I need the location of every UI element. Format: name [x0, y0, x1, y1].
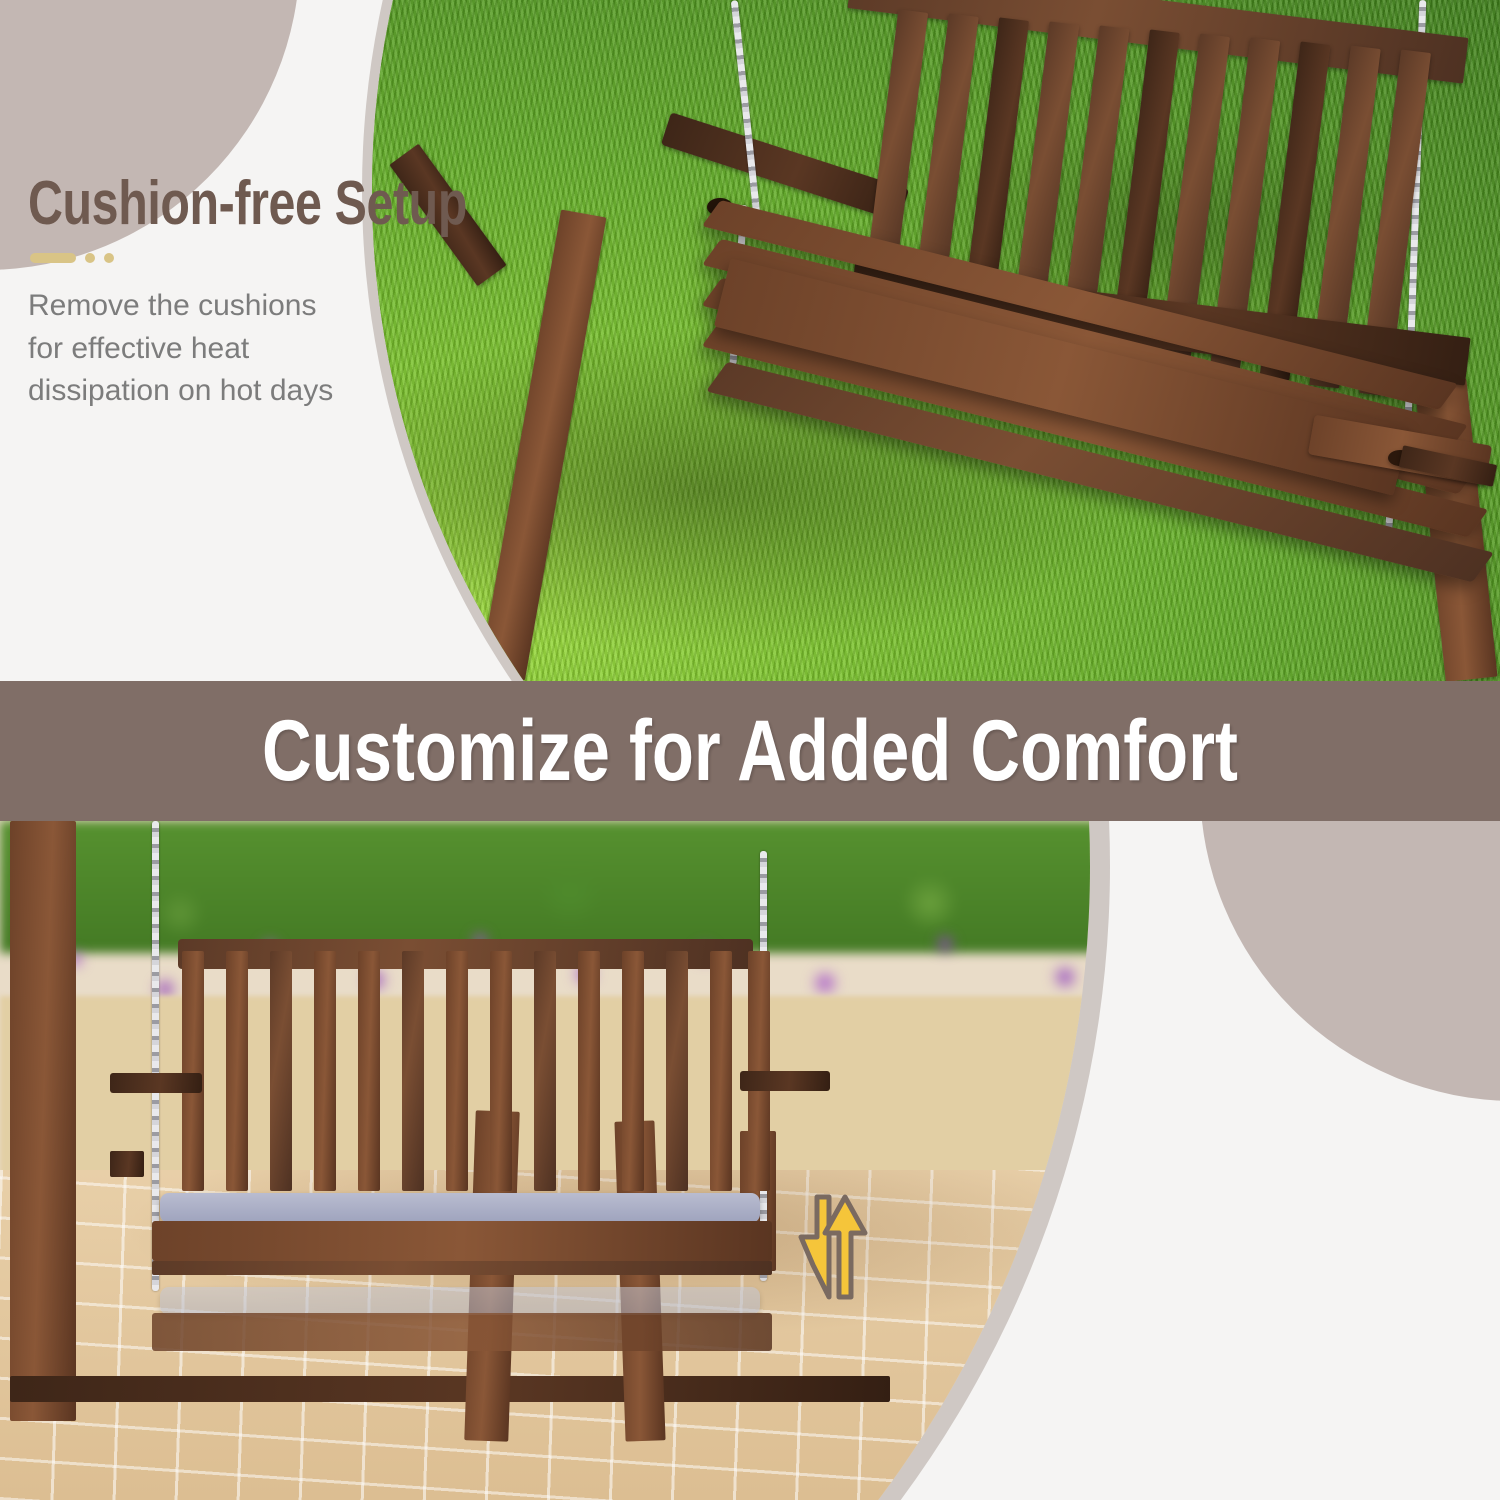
- divider-dot-2: [104, 253, 114, 263]
- top-product-photo: [372, 0, 1500, 681]
- divider-bar: [30, 253, 76, 263]
- top-body-copy: Remove the cushions for effective heat d…: [28, 285, 458, 413]
- top-heading: Cushion-free Setup: [28, 172, 363, 235]
- divider-dot-1: [85, 253, 95, 263]
- seat-cushion-lower-ghost: [160, 1287, 760, 1315]
- top-body-line-3: dissipation on hot days: [28, 370, 458, 413]
- up-down-arrows-icon: [795, 1185, 873, 1310]
- porch-swing-angled: [372, 0, 1500, 681]
- center-banner: Customize for Added Comfort: [0, 681, 1500, 821]
- top-divider: [30, 253, 458, 263]
- top-body-line-1: Remove the cushions: [28, 285, 458, 328]
- seat-cushion-upper: [160, 1193, 760, 1223]
- bottom-photo-image: [0, 821, 1090, 1500]
- decorative-blob-bottom-right: [1200, 821, 1500, 1101]
- banner-title: Customize for Added Comfort: [262, 702, 1238, 801]
- top-body-line-2: for effective heat: [28, 328, 458, 371]
- top-photo-image: [372, 0, 1500, 681]
- bottom-product-photo: [0, 821, 1090, 1500]
- top-text-block: Cushion-free Setup Remove the cushions f…: [28, 172, 458, 413]
- chain-left: [731, 0, 760, 215]
- bottom-feature-section: Adjustable Seat Height Set to your likin…: [0, 821, 1500, 1500]
- top-feature-section: Cushion-free Setup Remove the cushions f…: [0, 0, 1500, 681]
- porch-swing-front: [0, 821, 1090, 1500]
